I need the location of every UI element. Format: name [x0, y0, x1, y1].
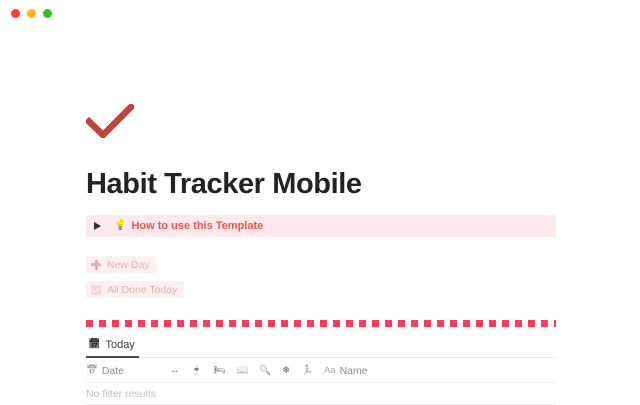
checkbox-icon: [91, 285, 101, 295]
database-view: 📅 Today 📅 Date ↔ 🍷 🛏: [86, 339, 556, 405]
no-results-message: No filter results: [86, 388, 156, 400]
all-done-today-label: All Done Today: [107, 284, 177, 296]
calendar-icon: 📅: [88, 340, 100, 350]
calendar-icon: 📅: [86, 366, 98, 376]
text-type-icon: Aa: [324, 366, 336, 376]
property-stretch[interactable]: ↔: [170, 366, 180, 376]
property-date-label: Date: [102, 365, 124, 377]
action-buttons: New Day All Done Today: [86, 256, 620, 306]
chevron-right-icon[interactable]: [94, 222, 101, 230]
plus-icon: [91, 260, 101, 270]
running-person-icon: 🏃: [301, 366, 313, 376]
tab-today[interactable]: 📅 Today: [86, 339, 139, 358]
tab-today-label: Today: [105, 339, 134, 351]
page-content: Habit Tracker Mobile 💡 How to use this T…: [0, 26, 640, 405]
property-run[interactable]: 🏃: [301, 366, 313, 376]
window-titlebar: [0, 0, 640, 26]
wine-glass-icon: 🍷: [191, 366, 203, 376]
property-snowflake[interactable]: ❄: [282, 366, 290, 376]
bed-icon: 🛏: [213, 366, 225, 376]
page-title: Habit Tracker Mobile: [86, 170, 620, 199]
book-icon: 📖: [236, 366, 248, 376]
minimize-window-button[interactable]: [27, 9, 36, 18]
property-header-row: 📅 Date ↔ 🍷 🛏 📖 🔍: [86, 358, 556, 383]
maximize-window-button[interactable]: [43, 9, 52, 18]
stretch-icon: ↔: [170, 366, 180, 376]
lightbulb-icon: 💡: [114, 221, 126, 231]
property-search[interactable]: 🔍: [259, 366, 271, 376]
page-icon[interactable]: [86, 26, 620, 160]
property-date[interactable]: 📅 Date: [86, 365, 124, 377]
property-name[interactable]: Aa Name: [324, 365, 368, 377]
close-window-button[interactable]: [11, 9, 20, 18]
dashed-divider: [86, 320, 556, 327]
checkmark-icon: [86, 104, 134, 138]
property-book[interactable]: 📖: [236, 366, 248, 376]
new-day-label: New Day: [107, 259, 150, 271]
property-bed[interactable]: 🛏: [213, 366, 225, 376]
property-name-label: Name: [340, 365, 368, 377]
how-to-use-toggle[interactable]: 💡 How to use this Template: [86, 215, 556, 237]
magnifier-icon: 🔍: [259, 366, 271, 376]
database-tabs: 📅 Today: [86, 339, 556, 358]
snowflake-icon: ❄: [282, 366, 290, 376]
new-day-button[interactable]: New Day: [86, 256, 157, 273]
empty-state-row: No filter results: [86, 383, 556, 405]
app-window: Habit Tracker Mobile 💡 How to use this T…: [0, 0, 640, 400]
callout-label: How to use this Template: [131, 220, 263, 232]
all-done-today-button[interactable]: All Done Today: [86, 281, 184, 298]
property-wine[interactable]: 🍷: [191, 366, 203, 376]
